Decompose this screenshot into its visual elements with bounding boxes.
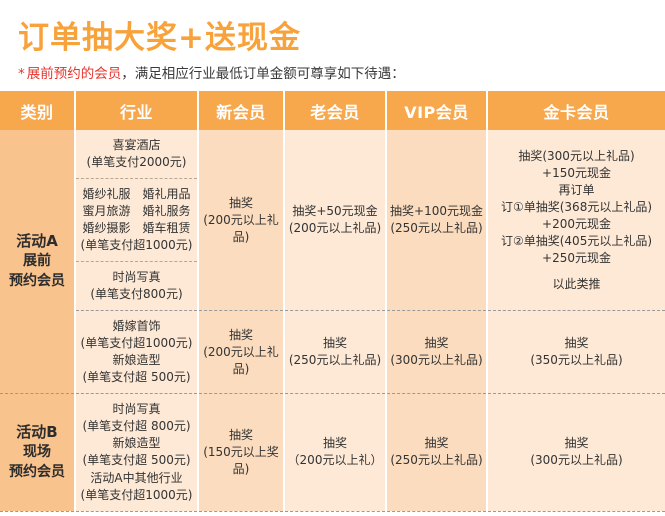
industry-line: (单笔支付超 800元) <box>80 418 193 435</box>
benefit-line: (300元以上礼品) <box>488 452 665 469</box>
benefit-cell-gold-a2: 抽奖 (350元以上礼品) <box>487 311 665 394</box>
category-line3: 预约会员 <box>0 272 74 292</box>
industry-line: 新娘造型 <box>80 352 193 369</box>
industry-cell-a2: 婚嫁首饰 (单笔支付超1000元) 新娘造型 (单笔支付超 500元) <box>75 311 198 394</box>
benefit-line: 抽奖 <box>488 335 665 352</box>
subtitle-asterisk: * <box>18 66 25 82</box>
subtitle-highlight: 展前预约的会员 <box>27 66 122 82</box>
industry-line: (单笔支付超 500元) <box>80 369 193 386</box>
benefit-cell-new-a1: 抽奖 (200元以上礼品) <box>198 130 284 311</box>
column-header-vip: VIP会员 <box>386 91 487 130</box>
benefit-line: 抽奖 <box>285 335 385 352</box>
benefits-table: 类别 行业 新会员 老会员 VIP会员 金卡会员 活动A 展前 预约会员 喜宴酒… <box>0 91 665 512</box>
column-header-industry: 行业 <box>75 91 198 130</box>
benefit-cell-old-a1: 抽奖+50元现金 (200元以上礼品) <box>284 130 386 311</box>
industry-line: 蜜月旅游 婚礼服务 <box>80 203 193 220</box>
industry-cell-a1: 喜宴酒店 (单笔支付2000元) 婚纱礼服 婚礼用品 蜜月旅游 婚礼服务 婚纱摄… <box>75 130 198 311</box>
subtitle-rest: ，满足相应行业最低订单金额可尊享如下待遇： <box>121 66 405 82</box>
table-header-row: 类别 行业 新会员 老会员 VIP会员 金卡会员 <box>0 91 665 130</box>
industry-line: (单笔支付超 500元) <box>80 452 193 469</box>
benefit-line: 以此类推 <box>488 276 665 293</box>
industry-line: (单笔支付800元) <box>80 286 193 303</box>
industry-group: 喜宴酒店 (单笔支付2000元) <box>76 130 197 178</box>
category-line2: 展前 <box>0 252 74 272</box>
industry-line: 时尚写真 <box>80 401 193 418</box>
industry-group: 时尚写真 (单笔支付800元) <box>76 261 197 310</box>
benefit-cell-vip-a1: 抽奖+100元现金 (250元以上礼品) <box>386 130 487 311</box>
benefit-line: (200元以上礼品) <box>285 220 385 237</box>
industry-line: 婚纱摄影 婚车租赁 <box>80 220 193 237</box>
benefit-line: 订①单抽奖(368元以上礼品) <box>488 199 665 216</box>
benefit-line: 再订单 <box>488 182 665 199</box>
benefit-line: (350元以上礼品) <box>488 352 665 369</box>
industry-line: 婚纱礼服 婚礼用品 <box>80 186 193 203</box>
benefit-line: 订②单抽奖(405元以上礼品) <box>488 233 665 250</box>
benefit-line: (200元以上礼品) <box>199 212 283 246</box>
benefit-line: +200元现金 <box>488 216 665 233</box>
industry-line: (单笔支付超1000元) <box>80 487 193 504</box>
benefit-line: 抽奖 <box>199 327 283 344</box>
benefit-cell-vip-a2: 抽奖 (300元以上礼品) <box>386 311 487 394</box>
page-title: 订单抽大奖+送现金 <box>18 12 301 57</box>
benefit-line: 抽奖(300元以上礼品) <box>488 148 665 165</box>
benefit-line: (250元以上礼品) <box>285 352 385 369</box>
benefit-line: +150元现金 <box>488 165 665 182</box>
benefit-line: (150元以上奖品) <box>199 444 283 478</box>
column-header-old: 老会员 <box>284 91 386 130</box>
industry-line: 喜宴酒店 <box>80 137 193 154</box>
industry-group: 时尚写真 (单笔支付超 800元) 新娘造型 (单笔支付超 500元) 活动A中… <box>76 394 197 510</box>
benefit-line: 抽奖 <box>285 435 385 452</box>
category-title: 活动A <box>0 231 74 252</box>
benefit-line: (200元以上礼品) <box>199 344 283 378</box>
page-title-text: 订单抽大奖+送现金 <box>18 20 301 56</box>
category-line3: 预约会员 <box>0 463 74 483</box>
benefit-cell-new-b1: 抽奖 (150元以上奖品) <box>198 394 284 511</box>
benefit-line: (250元以上礼品) <box>387 220 486 237</box>
industry-line: (单笔支付超1000元) <box>80 237 193 254</box>
benefit-line: 抽奖+50元现金 <box>285 203 385 220</box>
benefit-line: (250元以上礼品) <box>387 452 486 469</box>
page-subtitle: *展前预约的会员，满足相应行业最低订单金额可尊享如下待遇： <box>18 62 405 82</box>
benefit-line: +250元现金 <box>488 250 665 267</box>
industry-line: (单笔支付2000元) <box>80 154 193 171</box>
industry-line: (单笔支付超1000元) <box>80 335 193 352</box>
spacer <box>488 267 665 276</box>
table-row: 婚嫁首饰 (单笔支付超1000元) 新娘造型 (单笔支付超 500元) 抽奖 (… <box>0 311 665 394</box>
benefit-cell-new-a2: 抽奖 (200元以上礼品) <box>198 311 284 394</box>
benefit-line: (300元以上礼品) <box>387 352 486 369</box>
industry-cell-b1: 时尚写真 (单笔支付超 800元) 新娘造型 (单笔支付超 500元) 活动A中… <box>75 394 198 511</box>
benefit-cell-old-b1: 抽奖 （200元以上礼） <box>284 394 386 511</box>
column-header-category: 类别 <box>0 91 75 130</box>
benefit-cell-vip-b1: 抽奖 (250元以上礼品) <box>386 394 487 511</box>
benefit-cell-old-a2: 抽奖 (250元以上礼品) <box>284 311 386 394</box>
table-row: 活动B 现场 预约会员 时尚写真 (单笔支付超 800元) 新娘造型 (单笔支付… <box>0 394 665 511</box>
category-line2: 现场 <box>0 443 74 463</box>
benefit-line: 抽奖 <box>387 435 486 452</box>
benefit-line: 抽奖 <box>199 195 283 212</box>
benefit-line: （200元以上礼） <box>285 452 385 469</box>
column-header-new: 新会员 <box>198 91 284 130</box>
benefit-cell-gold-a1: 抽奖(300元以上礼品) +150元现金 再订单 订①单抽奖(368元以上礼品)… <box>487 130 665 311</box>
promo-table-page: 订单抽大奖+送现金 *展前预约的会员，满足相应行业最低订单金额可尊享如下待遇： … <box>0 0 665 516</box>
industry-group: 婚嫁首饰 (单笔支付超1000元) 新娘造型 (单笔支付超 500元) <box>76 311 197 393</box>
industry-group: 婚纱礼服 婚礼用品 蜜月旅游 婚礼服务 婚纱摄影 婚车租赁 (单笔支付超1000… <box>76 178 197 261</box>
benefit-cell-gold-b1: 抽奖 (300元以上礼品) <box>487 394 665 511</box>
benefit-line: 抽奖 <box>199 427 283 444</box>
table-row: 活动A 展前 预约会员 喜宴酒店 (单笔支付2000元) 婚纱礼服 婚礼用品 蜜… <box>0 130 665 311</box>
benefit-line: 抽奖+100元现金 <box>387 203 486 220</box>
benefit-line: 抽奖 <box>387 335 486 352</box>
industry-line: 新娘造型 <box>80 435 193 452</box>
category-title: 活动B <box>0 422 74 443</box>
category-cell-activity-b: 活动B 现场 预约会员 <box>0 394 75 511</box>
industry-line: 婚嫁首饰 <box>80 318 193 335</box>
industry-line: 活动A中其他行业 <box>80 470 193 487</box>
industry-line: 时尚写真 <box>80 269 193 286</box>
benefit-line: 抽奖 <box>488 435 665 452</box>
category-cell-activity-a: 活动A 展前 预约会员 <box>0 130 75 394</box>
column-header-gold: 金卡会员 <box>487 91 665 130</box>
